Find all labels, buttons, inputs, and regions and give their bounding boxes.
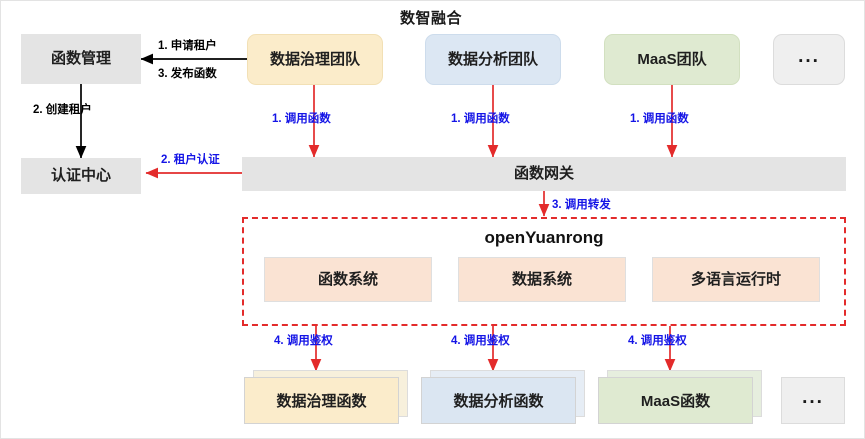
function-label: 数据分析函数 xyxy=(453,390,543,411)
diagram-title: 数智融合 xyxy=(331,7,531,28)
module-label: 函数系统 xyxy=(318,271,378,288)
team-label: ... xyxy=(798,46,820,68)
service-box-auth-center[interactable]: 认证中心 xyxy=(21,158,141,194)
flow-label-tenant-auth: 2. 租户认证 xyxy=(161,151,220,167)
team-label: MaaS团队 xyxy=(637,51,706,68)
flow-label-invoke-function-3: 1. 调用函数 xyxy=(630,110,689,126)
flow-label-create-tenant: 2. 创建租户 xyxy=(33,101,92,117)
card-front-layer: MaaS函数 xyxy=(598,377,753,424)
card-front-layer: 数据分析函数 xyxy=(421,377,576,424)
team-box-more[interactable]: ... xyxy=(773,34,845,85)
team-box-data-analysis[interactable]: 数据分析团队 xyxy=(425,34,561,85)
function-box-more[interactable]: ... xyxy=(781,377,845,424)
flow-label-authz-2: 4. 调用鉴权 xyxy=(451,332,510,348)
team-label: 数据治理团队 xyxy=(270,51,360,68)
team-box-maas[interactable]: MaaS团队 xyxy=(604,34,740,85)
flow-label-apply-tenant: 1. 申请租户 xyxy=(158,37,217,53)
flow-label-invoke-function-1: 1. 调用函数 xyxy=(272,110,331,126)
function-box-data-analysis[interactable]: 数据分析函数 xyxy=(421,377,591,433)
flow-label-publish-function: 3. 发布函数 xyxy=(158,65,217,81)
service-label: 函数管理 xyxy=(51,50,111,67)
function-box-data-governance[interactable]: 数据治理函数 xyxy=(244,377,414,433)
flow-label-forward-call: 3. 调用转发 xyxy=(552,196,611,212)
flow-label-authz-3: 4. 调用鉴权 xyxy=(628,332,687,348)
module-box-multilang-runtime[interactable]: 多语言运行时 xyxy=(652,257,820,302)
diagram-canvas: 数智融合 函数管理 认证中心 xyxy=(0,0,865,439)
flow-label-invoke-function-2: 1. 调用函数 xyxy=(451,110,510,126)
function-box-maas[interactable]: MaaS函数 xyxy=(598,377,768,433)
module-box-function-system[interactable]: 函数系统 xyxy=(264,257,432,302)
team-box-data-governance[interactable]: 数据治理团队 xyxy=(247,34,383,85)
gateway-bar[interactable]: 函数网关 xyxy=(242,157,846,191)
module-label: 多语言运行时 xyxy=(691,271,781,288)
gateway-label: 函数网关 xyxy=(514,165,574,182)
function-label: ... xyxy=(802,387,824,409)
flow-label-authz-1: 4. 调用鉴权 xyxy=(274,332,333,348)
function-label: 数据治理函数 xyxy=(276,390,366,411)
card-front-layer: 数据治理函数 xyxy=(244,377,399,424)
module-label: 数据系统 xyxy=(512,271,572,288)
team-label: 数据分析团队 xyxy=(448,51,538,68)
module-box-data-system[interactable]: 数据系统 xyxy=(458,257,626,302)
service-label: 认证中心 xyxy=(51,167,111,184)
service-box-function-management[interactable]: 函数管理 xyxy=(21,34,141,84)
function-label: MaaS函数 xyxy=(641,390,710,411)
openyuanrong-title: openYuanrong xyxy=(244,228,844,248)
